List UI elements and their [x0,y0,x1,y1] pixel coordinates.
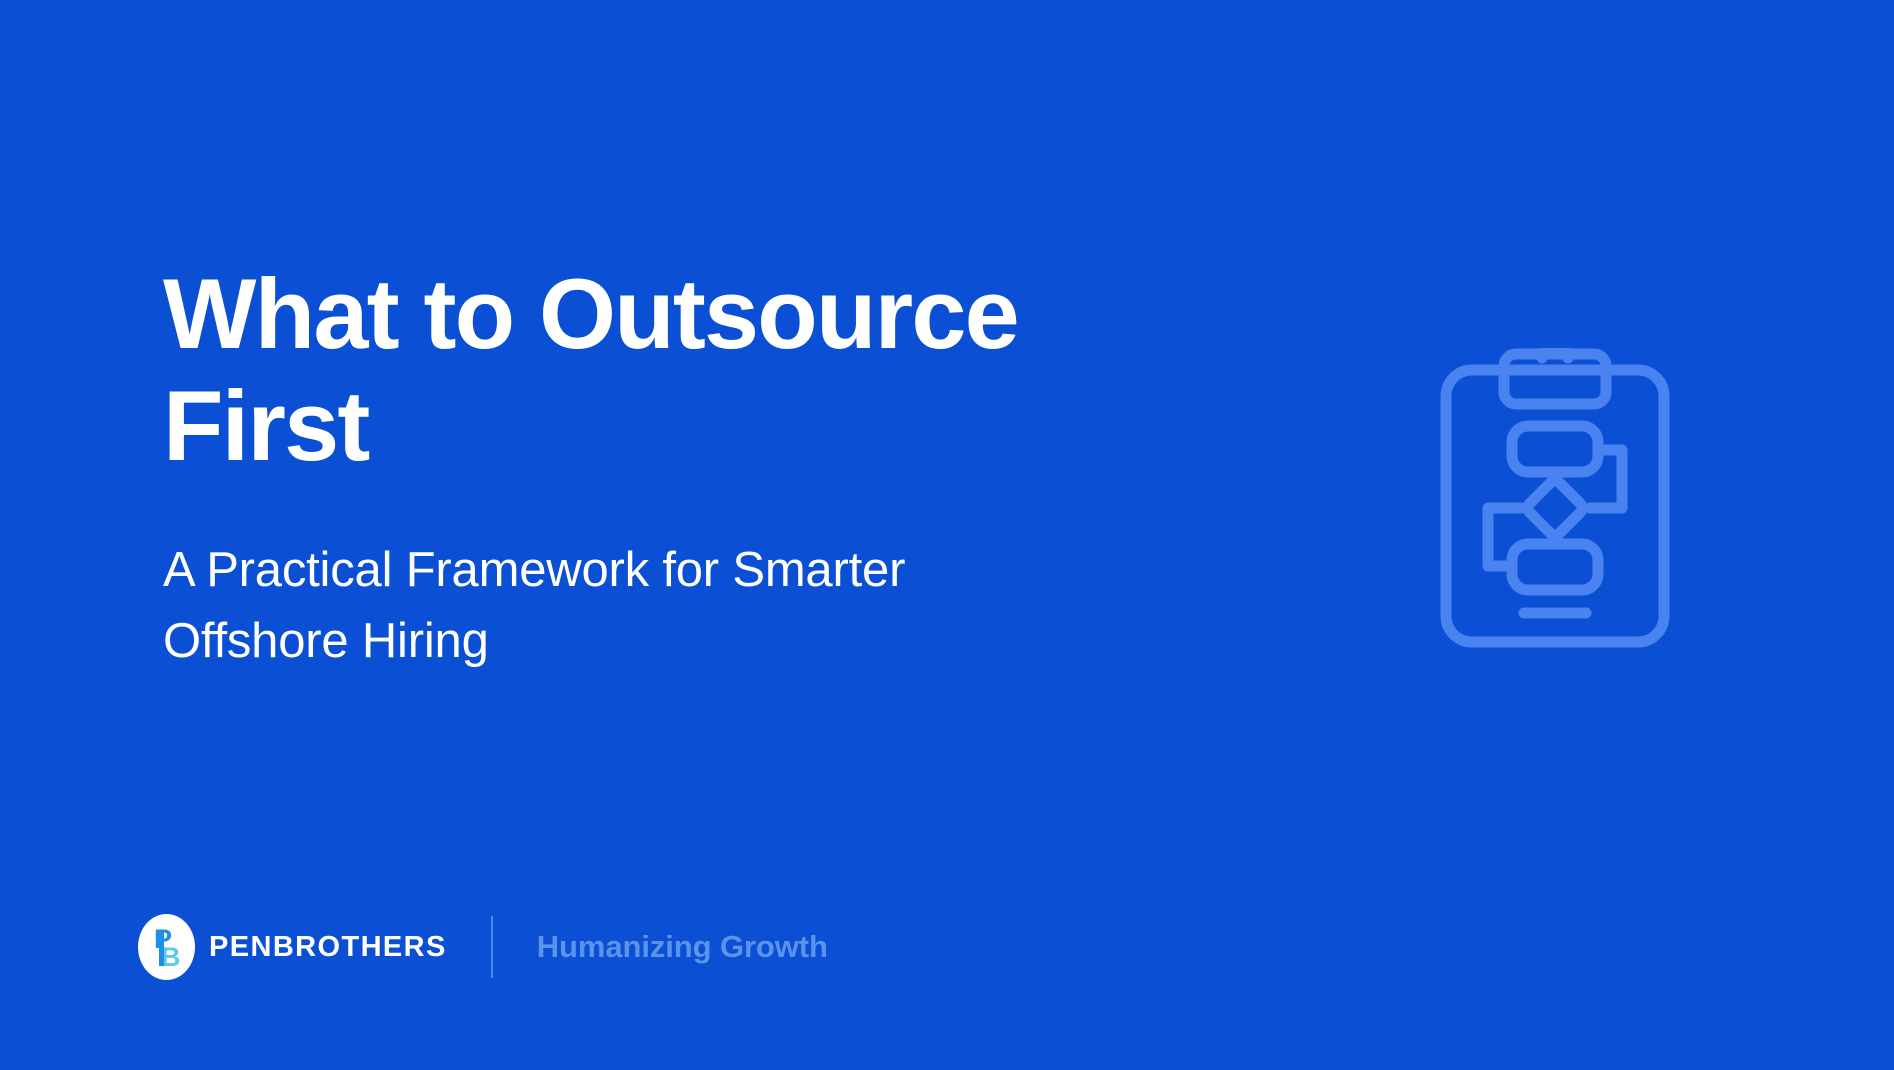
slide-canvas: What to Outsource First A Practical Fram… [0,0,1894,1070]
clipboard-flowchart-svg [1440,348,1670,648]
flow-process-box-top [1512,426,1598,472]
brand-tagline: Humanizing Growth [537,929,828,965]
emblem-stem [159,932,164,966]
clipboard-flowchart-icon [1440,348,1670,648]
page-subtitle: A Practical Framework for Smarter Offsho… [163,482,1023,677]
brand-lockup[interactable]: P B PENBROTHERS [138,914,447,980]
brand-wordmark: PENBROTHERS [209,931,447,964]
penbrothers-emblem-icon: P B [138,914,195,980]
title-block: What to Outsource First A Practical Fram… [163,258,1243,677]
page-title: What to Outsource First [163,258,1023,482]
flow-process-box-bottom [1512,544,1598,590]
footer-divider [491,916,493,978]
flow-decision-diamond [1525,478,1584,537]
clipboard-clip-shape [1504,354,1606,404]
brand-footer: P B PENBROTHERS Humanizing Growth [138,912,828,982]
